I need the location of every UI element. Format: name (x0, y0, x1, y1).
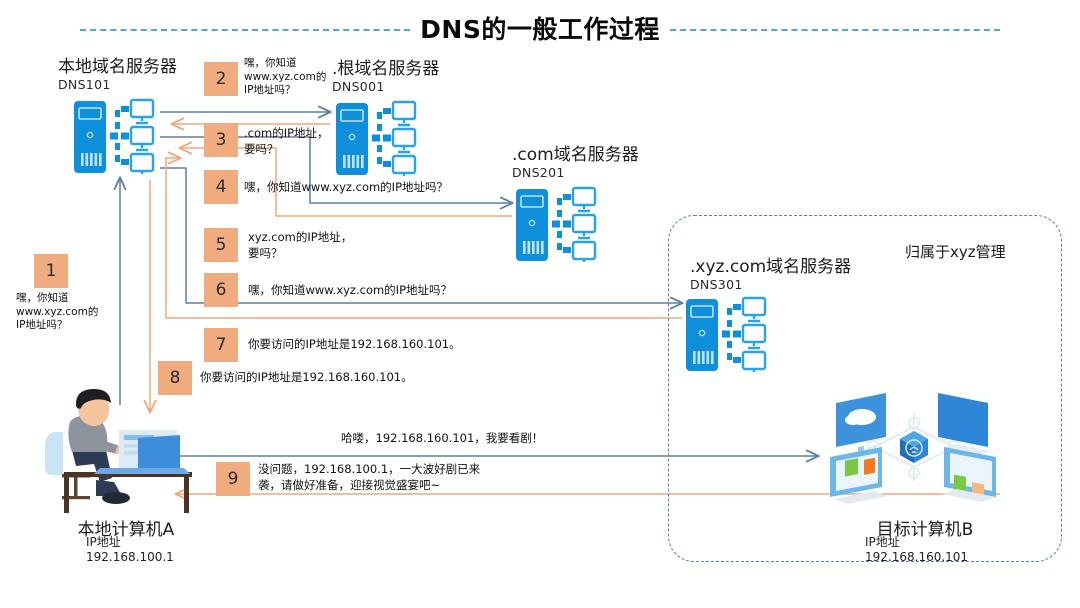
step-2-line-2: www.xyz.com的 (244, 71, 326, 85)
server-icon (72, 98, 172, 178)
step-3-line-1: .com的IP地址， (244, 126, 329, 142)
step-badge-9: 9 (216, 462, 250, 496)
server-icon (514, 186, 614, 266)
diagram-canvas: DNS的一般工作过程 (0, 0, 1080, 608)
title-rule-right-decoration (670, 29, 1000, 31)
step-message-2: 嘿，你知道 www.xyz.com的 IP地址吗？ (244, 57, 326, 98)
step-badge-7: 7 (204, 328, 238, 362)
person-at-desk-illustration (34, 388, 209, 513)
step-9-line-1: 没问题，192.168.100.1，一大波好剧已来 (258, 462, 480, 478)
com-dns-title: .com域名服务器 (512, 146, 639, 165)
step-message-3: .com的IP地址， 要吗？ (244, 126, 329, 157)
step-message-6: 嘿，你知道www.xyz.com的IP地址吗？ (248, 283, 452, 299)
server-icon (684, 296, 784, 376)
step-badge-1: 1 (34, 254, 68, 288)
step-badge-2: 2 (204, 62, 238, 96)
step-5-line-2: 要吗？ (248, 246, 352, 262)
local-dns-sub: DNS101 (58, 77, 177, 92)
target-network-illustration (812, 385, 1017, 510)
step-7-line-1: 你要访问的IP地址是192.168.160.101。 (248, 337, 461, 353)
step-1-line-3: IP地址吗？ (16, 319, 98, 333)
step-message-7: 你要访问的IP地址是192.168.160.101。 (248, 337, 461, 353)
step-5-line-1: xyz.com的IP地址， (248, 230, 352, 246)
title-rule-left-decoration (80, 29, 410, 31)
step-message-1: 嘿，你知道 www.xyz.com的 IP地址吗？ (16, 292, 98, 333)
step-9-line-2: 袭，请做好准备，迎接视觉盛宴吧~ (258, 478, 480, 494)
node-com-dns[interactable]: .com域名服务器 DNS201 (512, 146, 639, 180)
local-computer-ip-label: IP地址 (46, 534, 246, 550)
step-message-8: 你要访问的IP地址是192.168.160.101。 (200, 370, 413, 386)
step-8-line-1: 你要访问的IP地址是192.168.160.101。 (200, 370, 413, 386)
step-1-line-2: www.xyz.com的 (16, 306, 98, 320)
server-icon (334, 100, 434, 180)
step-badge-5: 5 (204, 228, 238, 262)
node-root-dns[interactable]: .根域名服务器 DNS001 (332, 60, 439, 94)
step-badge-3: 3 (204, 123, 238, 157)
step-message-4: 嘿，你知道www.xyz.com的IP地址吗？ (244, 180, 448, 196)
step-2-line-1: 嘿，你知道 (244, 57, 326, 71)
step-badge-6: 6 (204, 273, 238, 307)
root-dns-sub: DNS001 (332, 79, 439, 94)
target-computer-ip-label: IP地址 (835, 534, 1045, 550)
target-computer-ip-value: 192.168.160.101 (835, 549, 1045, 565)
step-3-line-2: 要吗？ (244, 142, 329, 158)
local-computer-ip-value: 192.168.100.1 (46, 549, 246, 565)
watch-request-line-1: 哈喽，192.168.160.101，我要看剧！ (341, 431, 543, 447)
root-dns-title: .根域名服务器 (332, 60, 439, 79)
node-local-dns[interactable]: 本地域名服务器 DNS101 (58, 58, 177, 92)
step-4-line-1: 嘿，你知道www.xyz.com的IP地址吗？ (244, 180, 448, 196)
com-dns-sub: DNS201 (512, 165, 639, 180)
xyz-dns-title: .xyz.com域名服务器 (690, 258, 851, 277)
step-6-line-1: 嘿，你知道www.xyz.com的IP地址吗？ (248, 283, 452, 299)
step-message-9: 没问题，192.168.100.1，一大波好剧已来 袭，请做好准备，迎接视觉盛宴… (258, 462, 480, 493)
xyz-dns-sub: DNS301 (690, 277, 851, 292)
title-row: DNS的一般工作过程 (0, 8, 1080, 48)
step-1-line-1: 嘿，你知道 (16, 292, 98, 306)
node-xyz-dns[interactable]: .xyz.com域名服务器 DNS301 (690, 258, 851, 292)
local-dns-title: 本地域名服务器 (58, 58, 177, 77)
watch-request-message: 哈喽，192.168.160.101，我要看剧！ (341, 431, 543, 447)
step-message-5: xyz.com的IP地址， 要吗？ (248, 230, 352, 261)
page-title: DNS的一般工作过程 (420, 10, 660, 46)
step-2-line-3: IP地址吗？ (244, 84, 326, 98)
step-badge-4: 4 (204, 170, 238, 204)
zone-label: 归属于xyz管理 (905, 241, 1006, 262)
